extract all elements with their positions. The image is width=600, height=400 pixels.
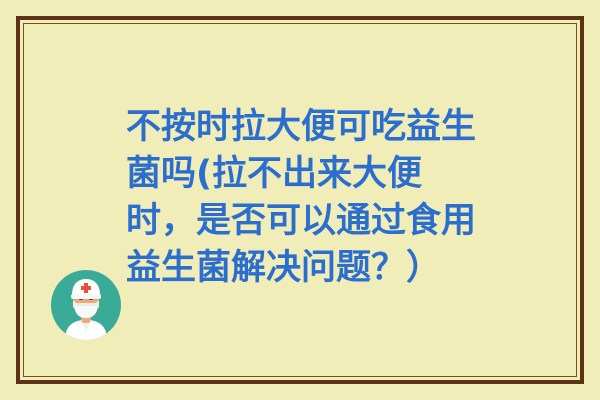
doctor-avatar	[51, 270, 121, 340]
doctor-avatar-icon	[51, 270, 121, 340]
poster-canvas: 不按时拉大便可吃益生菌吗(拉不出来大便时，是否可以通过食用益生菌解决问题？）	[0, 0, 600, 400]
page-title: 不按时拉大便可吃益生菌吗(拉不出来大便时，是否可以通过食用益生菌解决问题？）	[126, 104, 478, 292]
